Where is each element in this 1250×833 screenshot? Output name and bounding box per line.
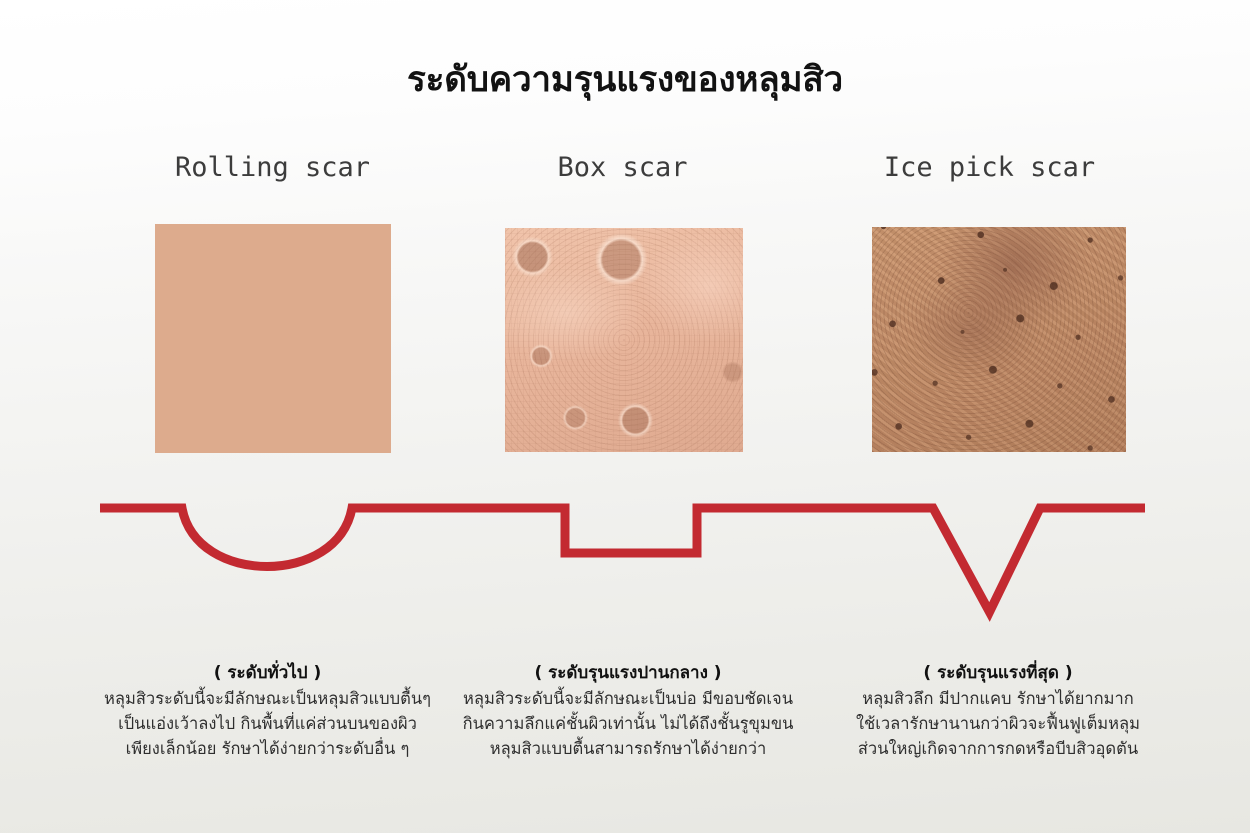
caption-body-rolling-scar: หลุมสิวระดับนี้จะมีลักษณะเป็นหลุมสิวแบบต… — [85, 686, 450, 761]
caption-heading-rolling-scar: ( ระดับทั่วไป ) — [85, 660, 450, 686]
caption-line: หลุมสิวลึก มีปากแคบ รักษาได้ยากมาก — [812, 686, 1184, 711]
rolling-scar-skin-texture — [155, 224, 391, 453]
caption-heading-ice-pick-scar: ( ระดับรุนแรงที่สุด ) — [812, 660, 1184, 686]
caption-body-box-scar: หลุมสิวระดับนี้จะมีลักษณะเป็นบ่อ มีขอบชั… — [442, 686, 814, 761]
scar-profile-line — [100, 508, 1145, 612]
caption-line: กินความลึกแค่ชั้นผิวเท่านั้น ไม่ได้ถึงชั… — [442, 711, 814, 736]
box-scar-skin-photo — [505, 228, 743, 452]
caption-ice-pick-scar: ( ระดับรุนแรงที่สุด ) หลุมสิวลึก มีปากแค… — [812, 660, 1184, 761]
infographic-page: { "title": "ระดับความรุนแรงของหลุมสิว", … — [0, 0, 1250, 833]
box-scar-skin-texture — [505, 228, 743, 452]
column-header-row: Rolling scar Box scar Ice pick scar — [0, 152, 1250, 192]
ice-pick-scar-skin-photo — [872, 227, 1126, 452]
caption-line: หลุมสิวระดับนี้จะมีลักษณะเป็นหลุมสิวแบบต… — [85, 686, 450, 711]
ice-pick-scar-skin-texture — [872, 227, 1126, 452]
caption-line: หลุมสิวระดับนี้จะมีลักษณะเป็นบ่อ มีขอบชั… — [442, 686, 814, 711]
caption-heading-box-scar: ( ระดับรุนแรงปานกลาง ) — [442, 660, 814, 686]
rolling-scar-skin-photo — [155, 224, 391, 453]
caption-body-ice-pick-scar: หลุมสิวลึก มีปากแคบ รักษาได้ยากมาก ใช้เว… — [812, 686, 1184, 761]
caption-line: เป็นแอ่งเว้าลงไป กินพื้นที่แค่ส่วนบนของผ… — [85, 711, 450, 736]
caption-rolling-scar: ( ระดับทั่วไป ) หลุมสิวระดับนี้จะมีลักษณ… — [85, 660, 450, 761]
caption-line: ส่วนใหญ่เกิดจากการกดหรือบีบสิวอุดตัน — [812, 736, 1184, 761]
column-header-box-scar: Box scar — [470, 152, 775, 183]
page-title: ระดับความรุนแรงของหลุมสิว — [0, 52, 1250, 107]
column-header-rolling-scar: Rolling scar — [120, 152, 425, 183]
caption-line: ใช้เวลารักษานานกว่าผิวจะฟื้นฟูเต็มหลุม — [812, 711, 1184, 736]
caption-box-scar: ( ระดับรุนแรงปานกลาง ) หลุมสิวระดับนี้จะ… — [442, 660, 814, 761]
column-header-ice-pick-scar: Ice pick scar — [837, 152, 1142, 183]
caption-line: หลุมสิวแบบตื้นสามารถรักษาได้ง่ายกว่า — [442, 736, 814, 761]
caption-line: เพียงเล็กน้อย รักษาได้ง่ายกว่าระดับอื่น … — [85, 736, 450, 761]
scar-depth-cross-section-diagram — [0, 470, 1250, 650]
